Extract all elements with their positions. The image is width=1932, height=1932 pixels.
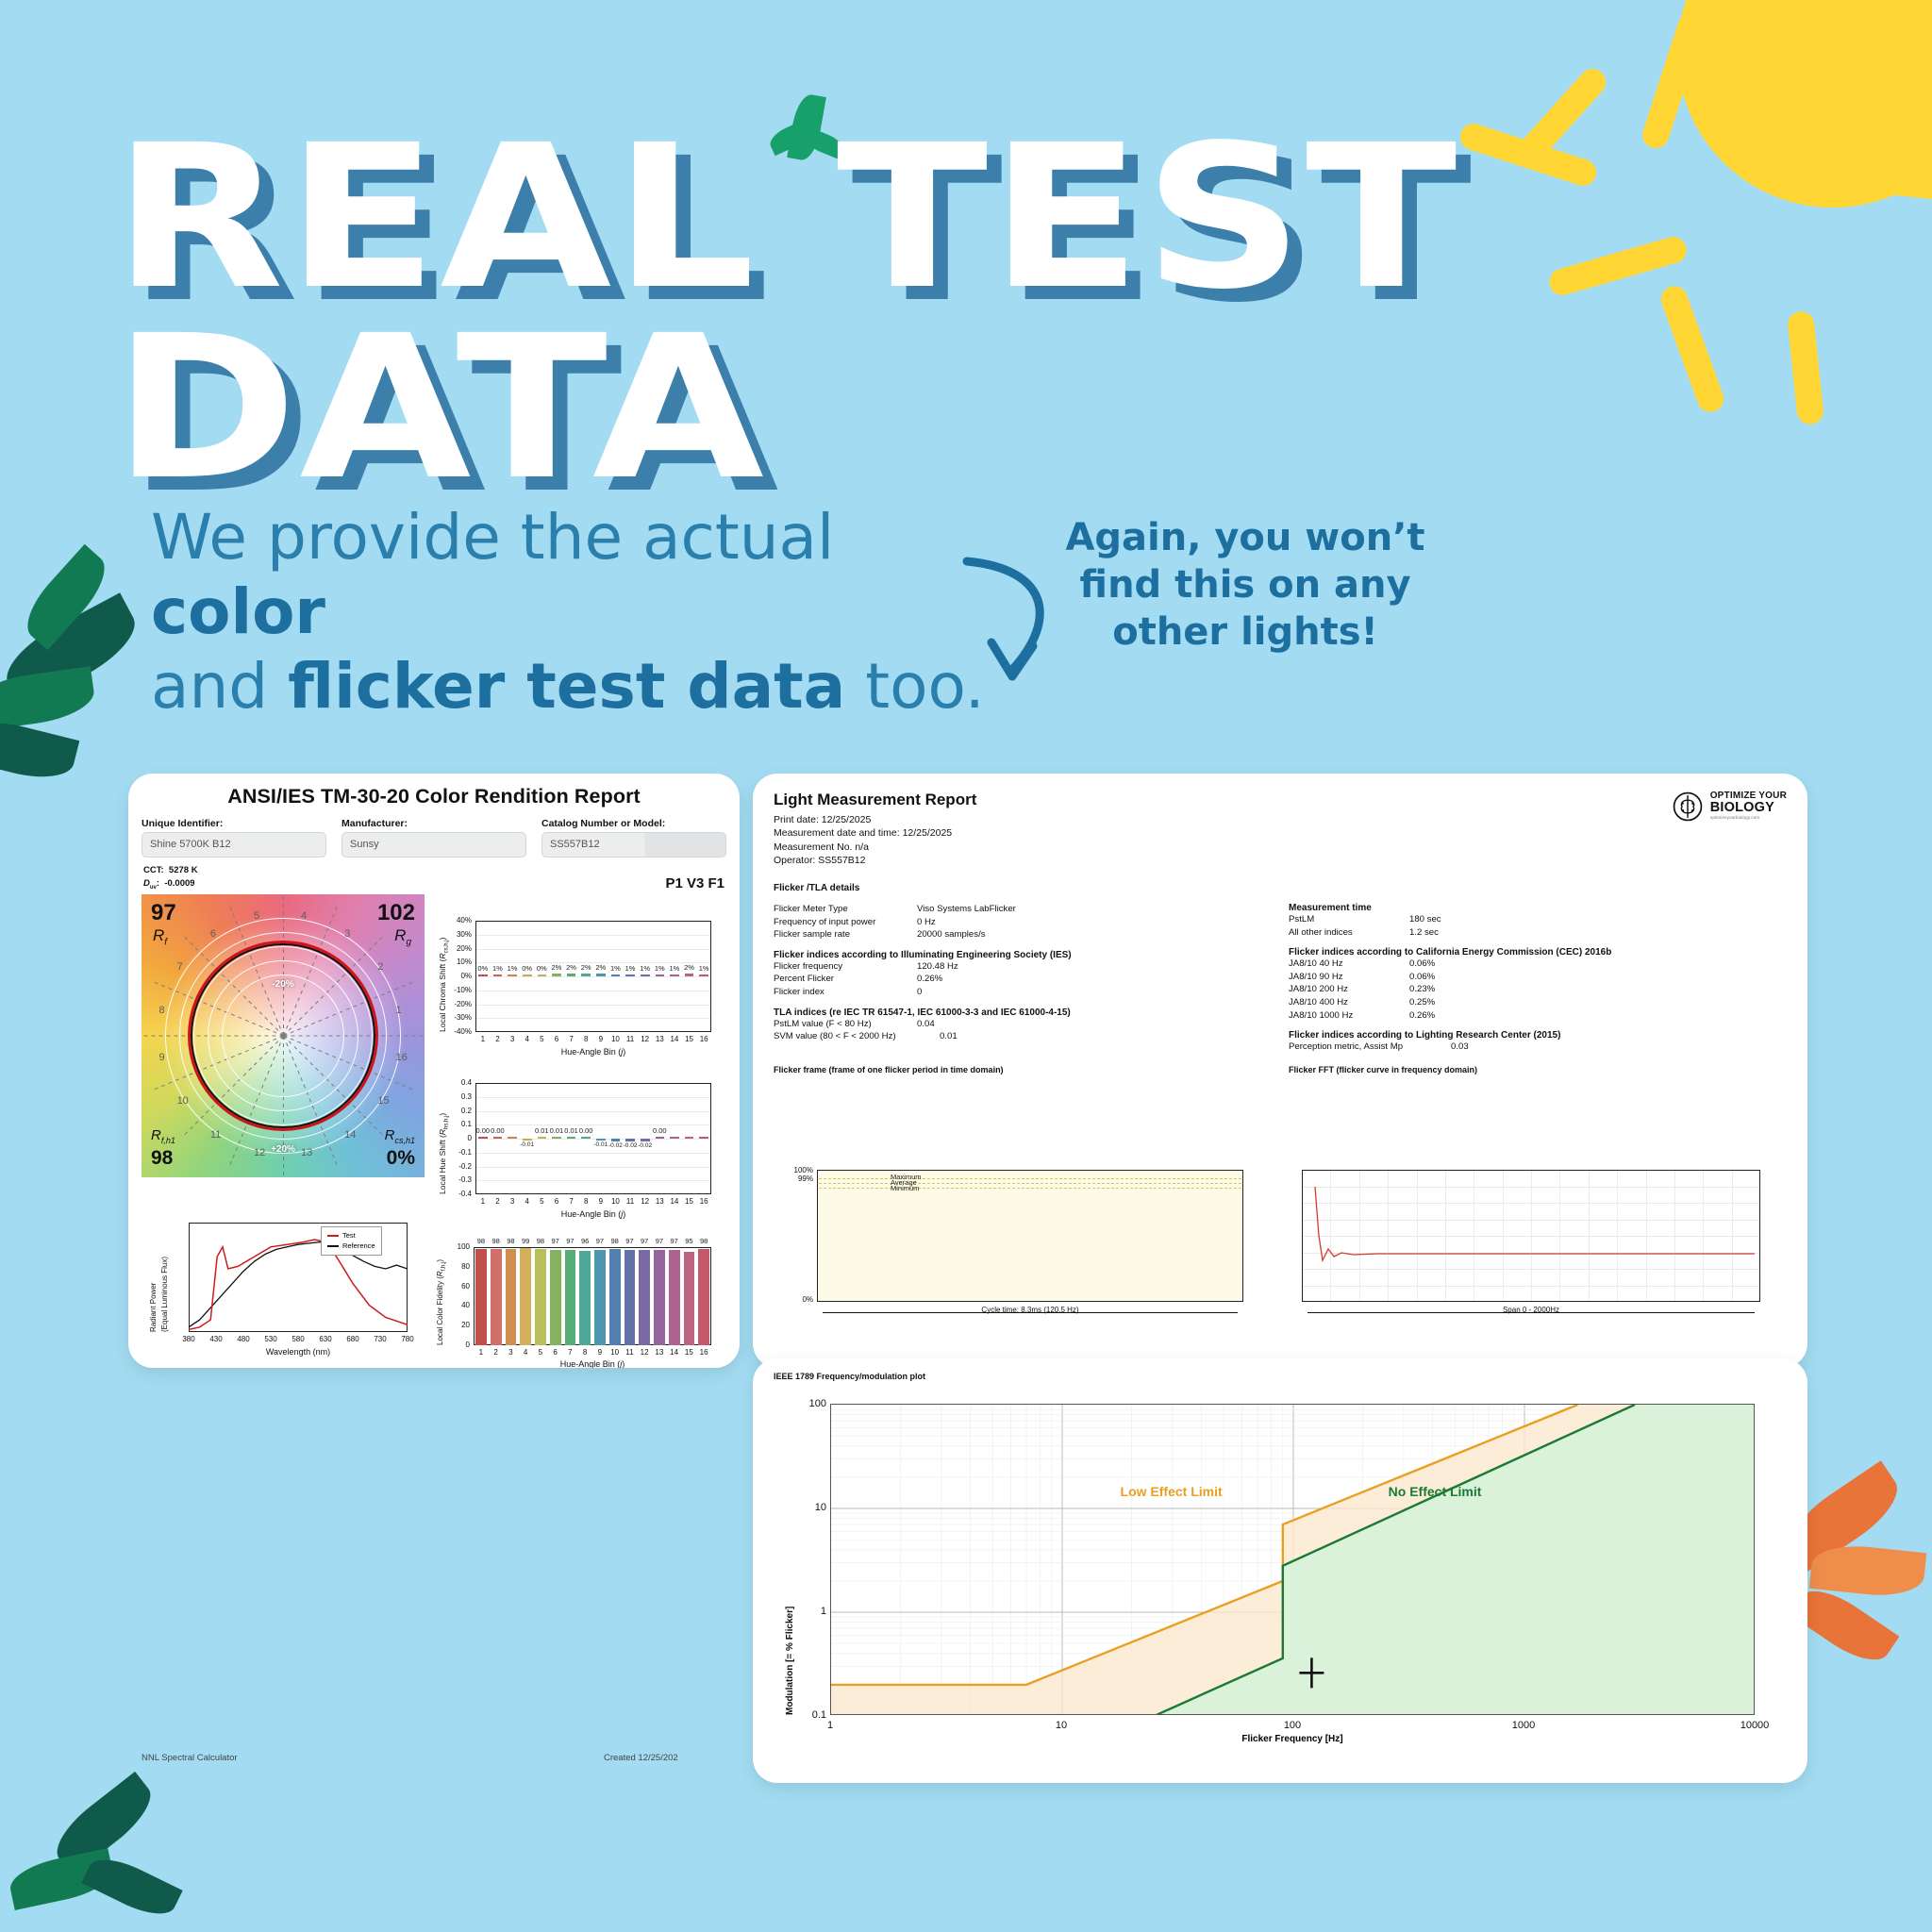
field-label: Manufacturer: <box>341 818 526 829</box>
tm30-identity-fields: Unique Identifier: Shine 5700K B12 Manuf… <box>128 808 740 858</box>
ies-row: Flicker frequency120.48 Hz <box>774 960 1264 974</box>
lmr-title: Light Measurement Report <box>774 791 976 809</box>
local-chroma-shift-chart: Local Chroma Shift (Rcs,h,j)40%30%20%10%… <box>428 913 728 1064</box>
catalog-number-input[interactable]: SS557B12 <box>541 832 726 858</box>
field-catalog-number: Catalog Number or Model: SS557B12 <box>541 818 726 858</box>
flicker-frame-plot: 100%99%0%MaximumAverageMinimumCycle time… <box>774 1164 1264 1349</box>
cct-label: CCT: <box>143 865 164 875</box>
cvg-ring-minus-label: -20% <box>272 979 293 990</box>
flicker-right-column: Measurement time PstLM180 sec All other … <box>1289 903 1779 1054</box>
ies-heading: Flicker indices according to Illuminatin… <box>774 950 1264 960</box>
unique-identifier-input[interactable]: Shine 5700K B12 <box>142 832 326 858</box>
cvg-bin-label: 8 <box>158 1005 164 1016</box>
rg-symbol: Rg <box>394 926 411 947</box>
tm30-footer-right: Created 12/25/202 <box>604 1753 678 1763</box>
ies-row: Percent Flicker0.26% <box>774 973 1264 986</box>
ieee1789-card: IEEE 1789 Frequency/modulation plot Modu… <box>753 1358 1807 1783</box>
lrc-heading: Flicker indices according to Lighting Re… <box>1289 1030 1779 1041</box>
duv-colon: : <box>157 878 159 889</box>
flicker-section-title: Flicker /TLA details <box>774 883 1787 893</box>
duv-sub: uv <box>150 885 157 891</box>
fft-curve <box>1302 1170 1760 1302</box>
chroma-ytick: -30% <box>441 1013 472 1022</box>
lmr-meta: Print date: 12/25/2025 Measurement date … <box>774 813 976 868</box>
field-manufacturer: Manufacturer: Sunsy <box>341 818 526 858</box>
tla-heading: TLA indices (re IEC TR 61547-1, IEC 6100… <box>774 1008 1264 1018</box>
measurement-time-heading: Measurement time <box>1289 903 1779 913</box>
flicker-left-column: Flicker Meter TypeViso Systems LabFlicke… <box>774 903 1264 1054</box>
tla-row: PstLM value (F < 80 Hz)0.04 <box>774 1018 1264 1031</box>
light-measurement-report-card: Light Measurement Report Print date: 12/… <box>753 774 1807 1368</box>
cct-value: 5278 K <box>169 865 198 875</box>
chroma-ytick: -10% <box>441 986 472 994</box>
cvg-test-circle <box>188 941 378 1131</box>
local-hue-shift-chart: Local Hue Shift (Rhs,h,j)0.40.30.20.10-0… <box>428 1075 728 1226</box>
cvg-bin-label: 9 <box>158 1052 164 1063</box>
cct-duv-row: CCT: 5278 K Duv: -0.0009 P1 V3 F1 <box>128 858 740 894</box>
field-label: Unique Identifier: <box>142 818 326 829</box>
cct-duv-block: CCT: 5278 K Duv: -0.0009 <box>143 864 198 891</box>
ieee1789-plot: Modulation [= % Flicker]1001010.11101001… <box>774 1391 1783 1768</box>
lmr-header-text: Light Measurement Report Print date: 12/… <box>774 791 976 868</box>
meter-block: Flicker Meter TypeViso Systems LabFlicke… <box>774 903 1264 941</box>
meter-row: Frequency of input power0 Hz <box>774 916 1264 929</box>
cvg-bin-label: 10 <box>177 1095 189 1107</box>
cvg-bin-label: 13 <box>301 1147 312 1158</box>
duv-label: D <box>143 878 150 889</box>
sidenote-text: Again, you won’t find this on any other … <box>1047 514 1443 656</box>
field-unique-identifier: Unique Identifier: Shine 5700K B12 <box>142 818 326 858</box>
color-vector-graphic: 97 Rf 102 Rg 98 Rf,h1 0% Rcs,h1 -20% +20… <box>142 894 425 1177</box>
chroma-ytick: -40% <box>441 1027 472 1036</box>
cec-row: JA8/10 40 Hz0.06% <box>1289 958 1779 971</box>
meas-time-row: PstLM180 sec <box>1289 913 1779 926</box>
leaf-shape <box>1809 1541 1927 1600</box>
leaf-shape <box>0 713 79 787</box>
lmr-meta-line: Measurement date and time: 12/25/2025 <box>774 826 976 840</box>
rcsh1-symbol: Rcs,h1 <box>385 1127 415 1145</box>
subheadline: We provide the actual color and flicker … <box>151 500 1000 724</box>
cvg-bin-label: 12 <box>254 1147 265 1158</box>
report-version-code: P1 V3 F1 <box>665 875 724 891</box>
lmr-meta-line: Measurement No. n/a <box>774 841 976 854</box>
cvg-ring-plus-label: +20% <box>271 1144 295 1155</box>
cvg-bin-label: 1 <box>396 1005 402 1016</box>
tm30-report-title: ANSI/IES TM-30-20 Color Rendition Report <box>128 774 740 808</box>
tm30-footer-left: NNL Spectral Calculator <box>142 1753 238 1763</box>
chroma-ytick: 10% <box>441 958 472 966</box>
chroma-ytick: 30% <box>441 930 472 939</box>
chroma-ytick: 40% <box>441 916 472 924</box>
cvg-bin-label: 11 <box>210 1129 221 1141</box>
chroma-ytick: 0% <box>441 972 472 980</box>
logo-line2: BIOLOGY <box>1710 801 1787 815</box>
flicker-fft-plot: Span 0 - 2000Hz <box>1289 1164 1779 1349</box>
leaf-shape <box>81 1849 182 1924</box>
cec-heading: Flicker indices according to California … <box>1289 947 1779 958</box>
meas-time-row: All other indices1.2 sec <box>1289 926 1779 940</box>
cvg-bin-label: 6 <box>210 928 216 940</box>
rfh1-symbol: Rf,h1 <box>151 1127 175 1145</box>
subheadline-bold-flicker: flicker test data <box>288 650 845 723</box>
subheadline-part2: and <box>151 650 288 723</box>
ieee-plot-svg <box>830 1404 1755 1715</box>
rf-symbol: Rf <box>153 926 167 947</box>
cvg-bin-label: 3 <box>344 928 350 940</box>
page-headline: REAL TEST DATA <box>113 123 1932 503</box>
spectral-power-distribution-chart: Radiant Power(Equal Luminous Flux)380430… <box>140 1217 423 1368</box>
manufacturer-input[interactable]: Sunsy <box>341 832 526 858</box>
logo-line3: optimizeyourbiology.com <box>1710 815 1787 820</box>
local-color-fidelity-chart: Local Color Fidelity (Rf,h,j)10080604020… <box>428 1234 728 1368</box>
field-label: Catalog Number or Model: <box>541 818 726 829</box>
rfh1-value: 98 <box>151 1147 173 1170</box>
chroma-ytick: -20% <box>441 1000 472 1008</box>
cvg-bin-label: 14 <box>344 1129 356 1141</box>
ies-row: Flicker index0 <box>774 986 1264 999</box>
duv-value: -0.0009 <box>164 878 194 889</box>
cec-row: JA8/10 1000 Hz0.26% <box>1289 1009 1779 1023</box>
flicker-frame-caption: Flicker frame (frame of one flicker peri… <box>774 1065 1264 1074</box>
brand-logo: OPTIMIZE YOUR BIOLOGY optimizeyourbiolog… <box>1672 791 1787 868</box>
ieee1789-caption: IEEE 1789 Frequency/modulation plot <box>753 1358 1807 1381</box>
brain-icon <box>1672 791 1704 823</box>
cec-row: JA8/10 200 Hz0.23% <box>1289 983 1779 996</box>
rf-value: 97 <box>151 900 176 926</box>
tm30-report-card: ANSI/IES TM-30-20 Color Rendition Report… <box>128 774 740 1368</box>
cvg-bin-label: 7 <box>177 961 183 973</box>
cec-row: JA8/10 90 Hz0.06% <box>1289 971 1779 984</box>
cvg-bin-label: 4 <box>301 910 307 922</box>
cvg-bin-label: 15 <box>377 1095 389 1107</box>
cvg-bin-label: 2 <box>377 961 383 973</box>
meter-row: Flicker sample rate20000 samples/s <box>774 928 1264 941</box>
lrc-row: Perception metric, Assist Mp0.03 <box>1289 1041 1779 1054</box>
subheadline-bold-color: color <box>151 575 325 648</box>
lmr-meta-line: Operator: SS557B12 <box>774 854 976 867</box>
meter-row: Flicker Meter TypeViso Systems LabFlicke… <box>774 903 1264 916</box>
tla-row: SVM value (80 < F < 2000 Hz)0.01 <box>774 1030 1264 1043</box>
rg-value: 102 <box>377 900 415 926</box>
subheadline-part1: We provide the actual <box>151 501 834 574</box>
chroma-ytick: 20% <box>441 944 472 953</box>
rcsh1-value: 0% <box>387 1147 415 1170</box>
cec-row: JA8/10 400 Hz0.25% <box>1289 996 1779 1009</box>
cvg-bin-label: 16 <box>396 1052 408 1063</box>
flicker-fft-caption: Flicker FFT (flicker curve in frequency … <box>1289 1065 1779 1074</box>
cvg-bin-label: 5 <box>254 910 259 922</box>
lmr-meta-line: Print date: 12/25/2025 <box>774 813 976 826</box>
